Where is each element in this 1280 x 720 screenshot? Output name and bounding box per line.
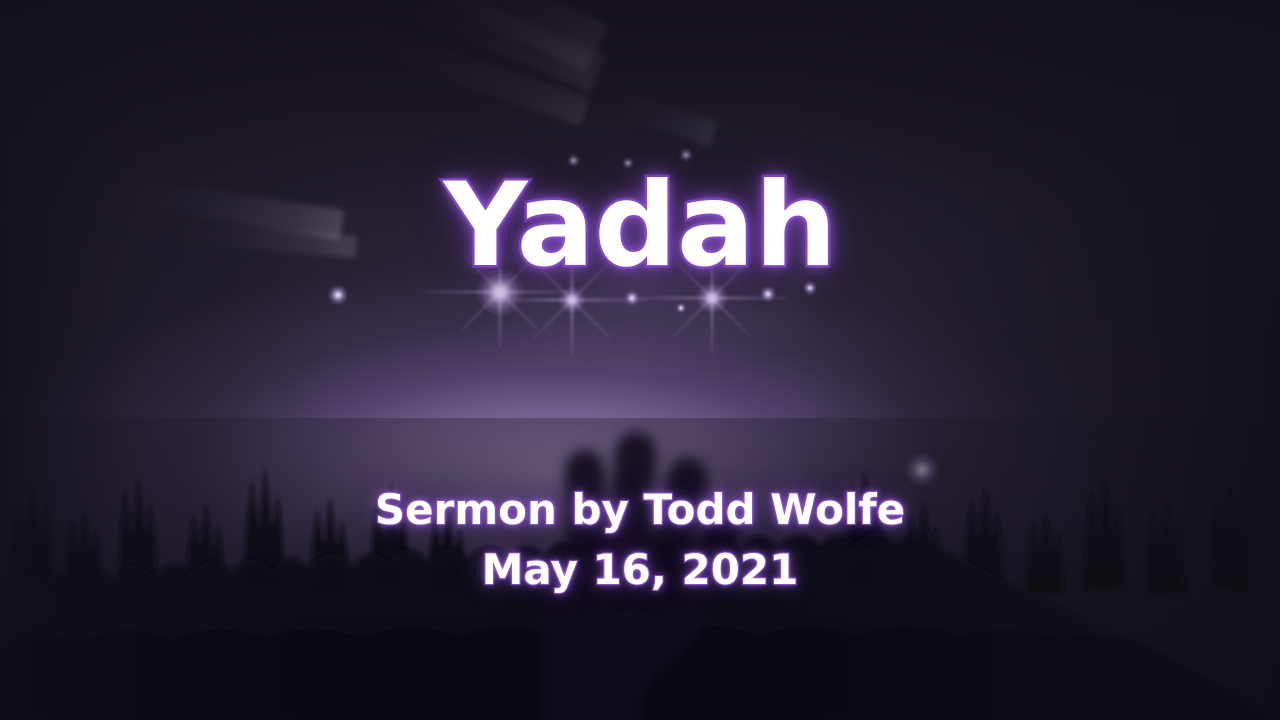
sermon-title-slide: Yadah Sermon by Todd Wolfe May 16, 2021 (0, 0, 1280, 720)
lamp-9-icon (679, 148, 693, 162)
foreground-hand-silhouette (455, 420, 755, 720)
lamp-1-icon (477, 269, 523, 315)
lamp-1-spike-icon (461, 253, 539, 331)
lamp-5-spike-icon (673, 259, 751, 337)
lamp-2-icon (559, 287, 585, 313)
lamp-5-spike-alt-icon (673, 259, 751, 337)
lamp-6-icon (760, 286, 776, 302)
lamp-3-icon (624, 290, 640, 306)
stage-light-beam-1 (288, 0, 607, 72)
lamp-1-spike-alt-icon (461, 253, 539, 331)
lamp-5-icon (697, 283, 727, 313)
lamp-4-icon (676, 303, 686, 313)
stage-light-beam-5 (171, 220, 357, 258)
stage-light-beam-4 (123, 176, 345, 240)
lamp-7-icon (803, 281, 817, 295)
lamp-8-icon (622, 157, 634, 169)
lamp-11-icon (328, 285, 348, 305)
lamp-2-spike-alt-icon (533, 261, 611, 339)
stage-light-beam-2 (323, 0, 606, 92)
lamp-2-spike-icon (533, 261, 611, 339)
stage-light-beam-6 (605, 89, 718, 146)
lamp-10-icon (567, 154, 580, 167)
stage-light-beam-3 (344, 16, 590, 126)
slide-title: Yadah (0, 168, 1280, 284)
